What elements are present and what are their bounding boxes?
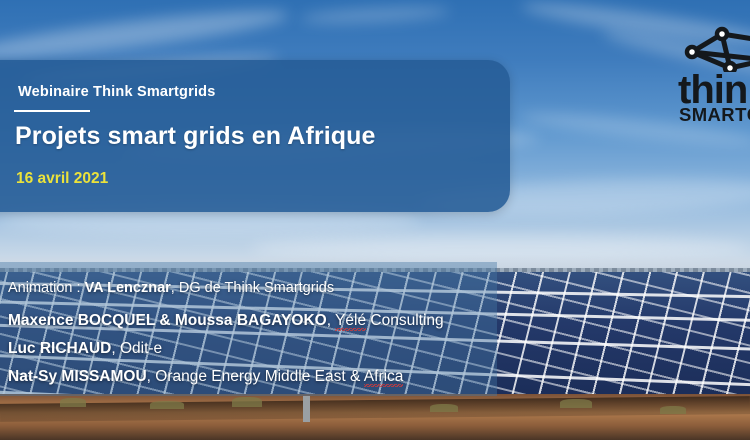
grass-tuft: [232, 397, 262, 407]
grass-tuft: [560, 399, 592, 408]
speaker-org: Orange Energy Middle East &: [155, 368, 364, 385]
think-smartgrids-logo: think SMARTG: [678, 26, 750, 130]
panel-support-post: [303, 396, 310, 422]
speaker-separator: ,: [147, 368, 156, 385]
speaker-row: Maxence BOCQUEL & Moussa BAGAYOKO, Yélé …: [8, 312, 444, 330]
speaker-row: Luc RICHAUD, Odit-e: [8, 340, 162, 358]
moderator-role: , DG de Think Smartgrids: [171, 280, 334, 296]
grass-tuft: [60, 398, 86, 407]
speaker-name: Luc RICHAUD: [8, 340, 111, 357]
moderator-line: Animation : VA Lencznar, DG de Think Sma…: [8, 280, 334, 296]
speaker-separator: ,: [111, 340, 120, 357]
speakers-overlay: Animation : VA Lencznar, DG de Think Sma…: [0, 262, 497, 396]
speaker-separator: ,: [327, 312, 335, 329]
grass-tuft: [660, 406, 686, 414]
slide-canvas: Webinaire Think Smartgrids Projets smart…: [0, 0, 750, 440]
moderator-prefix: Animation :: [8, 280, 85, 296]
network-nodes-icon: [678, 26, 750, 72]
speaker-org-rest: Africa: [364, 368, 404, 387]
speaker-name: Maxence BOCQUEL & Moussa BAGAYOKO: [8, 312, 327, 329]
logo-subwordmark: SMARTG: [679, 106, 750, 125]
moderator-name: VA Lencznar: [85, 280, 171, 296]
speaker-name: Nat-Sy MISSAMOU: [8, 368, 147, 385]
banner-divider: [14, 110, 90, 112]
cloud: [300, 4, 451, 26]
banner-kicker: Webinaire Think Smartgrids: [18, 84, 216, 100]
event-date: 16 avril 2021: [16, 170, 108, 188]
title-banner: Webinaire Think Smartgrids Projets smart…: [0, 60, 510, 212]
grass-tuft: [430, 404, 458, 412]
speaker-org: Yélé: [335, 312, 366, 331]
page-title: Projets smart grids en Afrique: [15, 122, 376, 151]
speaker-org-rest: Consulting: [366, 312, 444, 329]
speaker-org: Odit-e: [120, 340, 162, 357]
grass-tuft: [150, 401, 184, 409]
speaker-row: Nat-Sy MISSAMOU, Orange Energy Middle Ea…: [8, 368, 403, 386]
